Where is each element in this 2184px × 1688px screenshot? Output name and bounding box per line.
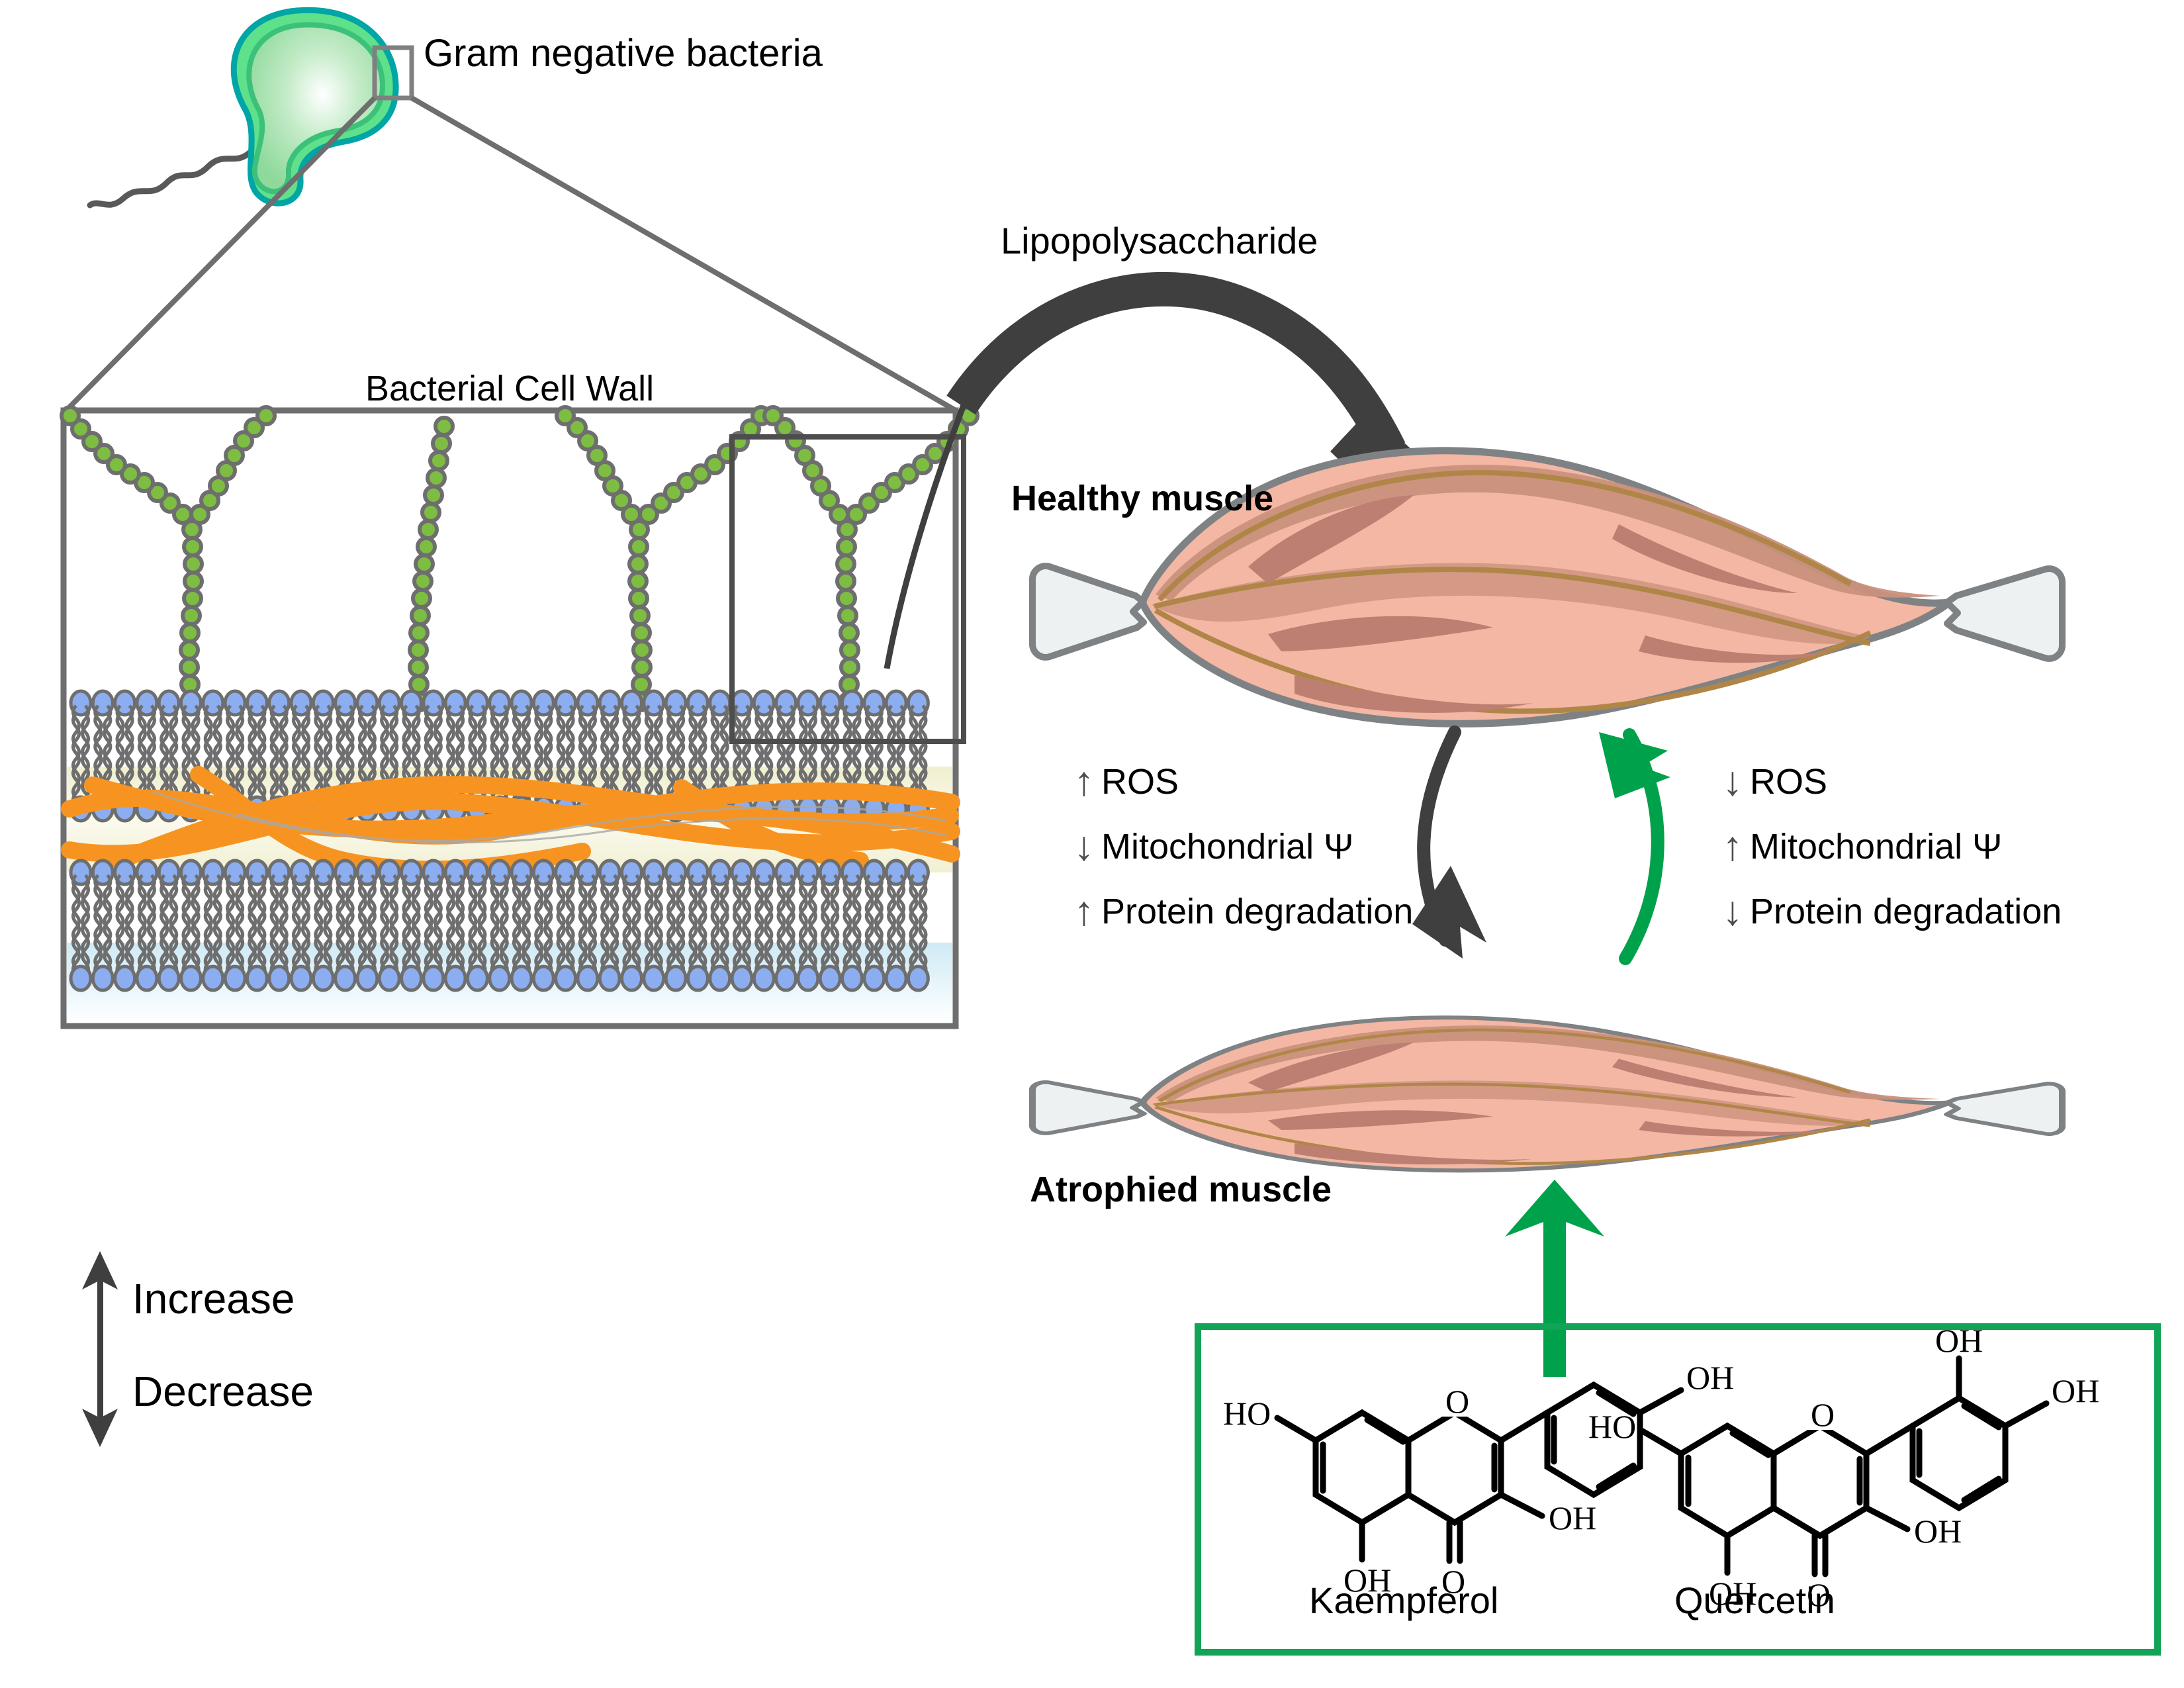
kaempferol-oh-3: OH [1549,1499,1596,1536]
effect-label: Protein degradation [1750,891,2062,932]
effect-label: ROS [1101,761,1179,802]
effect-row: ↓ Protein degradation [1715,879,2062,944]
up-arrow-icon: ↑ [1067,761,1101,802]
down-arrow-icon: ↓ [1715,761,1750,802]
quercetin-oh-3p: OH [1935,1322,1983,1359]
effect-label: ROS [1750,761,1827,802]
kaempferol-atom-labels: O HO OH O OH OH [1223,1359,1734,1600]
up-arrow-icon: ↑ [1067,891,1101,932]
kaempferol-oh-4p: OH [1686,1359,1734,1396]
effect-row: ↓ Mitochondrial Ψ [1067,814,1413,879]
quercetin-oh-3: OH [1914,1513,1962,1550]
label-gram-negative-bacteria: Gram negative bacteria [424,34,823,73]
kaempferol-ether-o: O [1445,1383,1469,1420]
atrophied-muscle-illustration [1032,1017,2062,1170]
degeneration-arrow-black [1412,732,1486,959]
label-bacterial-cell-wall: Bacterial Cell Wall [365,371,654,406]
lps-effects-list: ↑ ROS ↓ Mitochondrial Ψ ↑ Protein degrad… [1067,749,1413,944]
effect-row: ↓ ROS [1715,749,2062,814]
label-atrophied-muscle: Atrophied muscle [1030,1172,1332,1207]
callout-lines [66,98,956,410]
figure-canvas: O HO OH O OH OH O HO OH O OH OH OH [0,0,2184,1688]
down-arrow-icon: ↓ [1067,826,1101,867]
down-arrow-icon: ↓ [1715,891,1750,932]
effect-label: Mitochondrial Ψ [1101,826,1353,867]
compound-name-quercetin: Quercetin [1674,1582,1835,1619]
effect-label: Protein degradation [1101,891,1413,932]
up-arrow-icon: ↑ [1715,826,1750,867]
quercetin-ether-o: O [1811,1396,1835,1433]
label-healthy-muscle: Healthy muscle [1011,481,1273,516]
gram-negative-bacterium [90,10,396,205]
flavonoid-effects-list: ↓ ROS ↑ Mitochondrial Ψ ↓ Protein degrad… [1715,749,2062,944]
effect-label: Mitochondrial Ψ [1750,826,2002,867]
quercetin-ho-7: HO [1588,1408,1636,1445]
kaempferol-ho-7: HO [1223,1395,1271,1432]
label-lipopolysaccharide: Lipopolysaccharide [1001,222,1318,259]
quercetin-oh-4p: OH [2052,1372,2099,1409]
legend-decrease-arrow [82,1349,118,1447]
legend-decrease-label: Decrease [132,1370,314,1413]
flavonoid-treatment-arrow [1505,1180,1604,1377]
compound-name-kaempferol: Kaempferol [1309,1582,1498,1619]
bacterium-zoom-marker [375,48,412,98]
legend-increase-arrow [82,1251,118,1349]
legend-increase-label: Increase [132,1278,295,1320]
effect-row: ↑ Protein degradation [1067,879,1413,944]
effect-row: ↑ Mitochondrial Ψ [1715,814,2062,879]
effect-row: ↑ ROS [1067,749,1413,814]
bacterial-cell-wall-panel [62,407,978,1026]
recovery-arrow-green [1599,732,1670,959]
quercetin-atom-labels: O HO OH O OH OH OH [1588,1322,2099,1613]
